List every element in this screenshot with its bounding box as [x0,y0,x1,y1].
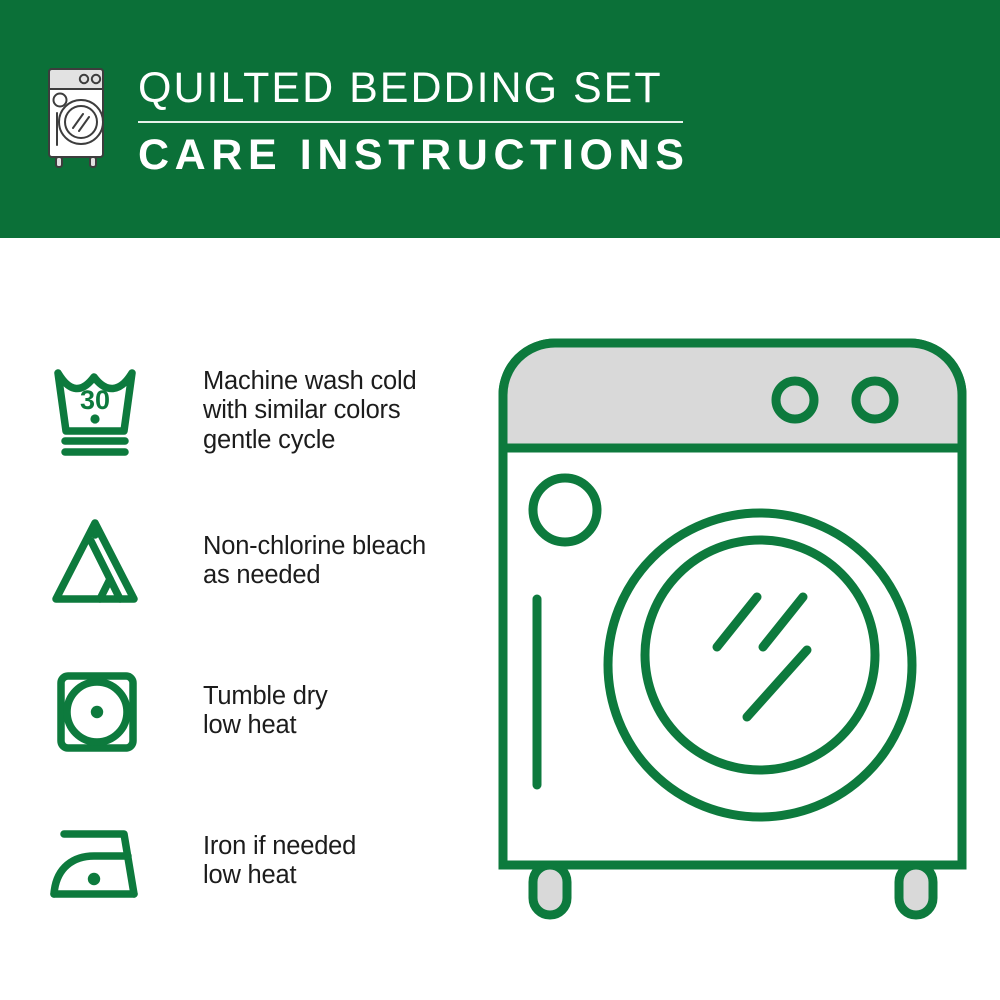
wash-symbol-container: 30 [48,361,158,461]
tumble-dry-symbol-container [48,661,158,761]
leg-right [899,865,933,915]
care-label-wash-line-1: Machine wash cold [203,367,416,397]
tumble-dry-heat-dot [91,706,103,718]
care-instruction-list: 30 Machine wash cold with similar colors… [48,336,478,936]
care-row-iron: Iron if needed low heat [48,786,478,936]
washing-machine-icon [44,65,114,173]
care-instructions-page: QUILTED BEDDING SET CARE INSTRUCTIONS [0,0,1000,1000]
care-label-wash-line-2: with similar colors [203,396,416,426]
care-row-tumble-dry: Tumble dry low heat [48,636,478,786]
wash-temperature-label: 30 [80,385,110,415]
care-label-tumble-dry-line-2: low heat [203,711,328,741]
care-label-bleach-line-1: Non-chlorine bleach [203,532,426,562]
iron-icon [48,811,156,911]
bleach-symbol-container [48,511,158,611]
care-label-tumble-dry: Tumble dry low heat [203,682,328,741]
title-divider [138,121,683,123]
wash-tub-icon: 30 [48,361,156,461]
care-row-bleach: Non-chlorine bleach as needed [48,486,478,636]
leg-left [533,865,567,915]
care-label-iron-line-1: Iron if needed [203,832,356,862]
header-content: QUILTED BEDDING SET CARE INSTRUCTIONS [44,62,690,179]
care-label-iron-line-2: low heat [203,861,356,891]
care-label-bleach-line-2: as needed [203,561,426,591]
page-title: QUILTED BEDDING SET [138,64,690,112]
tumble-dry-icon [48,661,156,761]
page-subtitle: CARE INSTRUCTIONS [138,131,690,179]
care-label-bleach: Non-chlorine bleach as needed [203,532,426,591]
bleach-triangle-icon [48,511,156,611]
title-block: QUILTED BEDDING SET CARE INSTRUCTIONS [138,62,690,179]
care-row-wash: 30 Machine wash cold with similar colors… [48,336,478,486]
iron-heat-dot [88,873,100,885]
iron-symbol-container [48,811,158,911]
care-label-iron: Iron if needed low heat [203,832,356,891]
care-label-wash: Machine wash cold with similar colors ge… [203,367,416,456]
care-label-tumble-dry-line-1: Tumble dry [203,682,328,712]
wash-dot [90,414,99,423]
washing-machine-illustration [495,335,970,930]
header-banner: QUILTED BEDDING SET CARE INSTRUCTIONS [0,0,1000,238]
care-label-wash-line-3: gentle cycle [203,426,416,456]
